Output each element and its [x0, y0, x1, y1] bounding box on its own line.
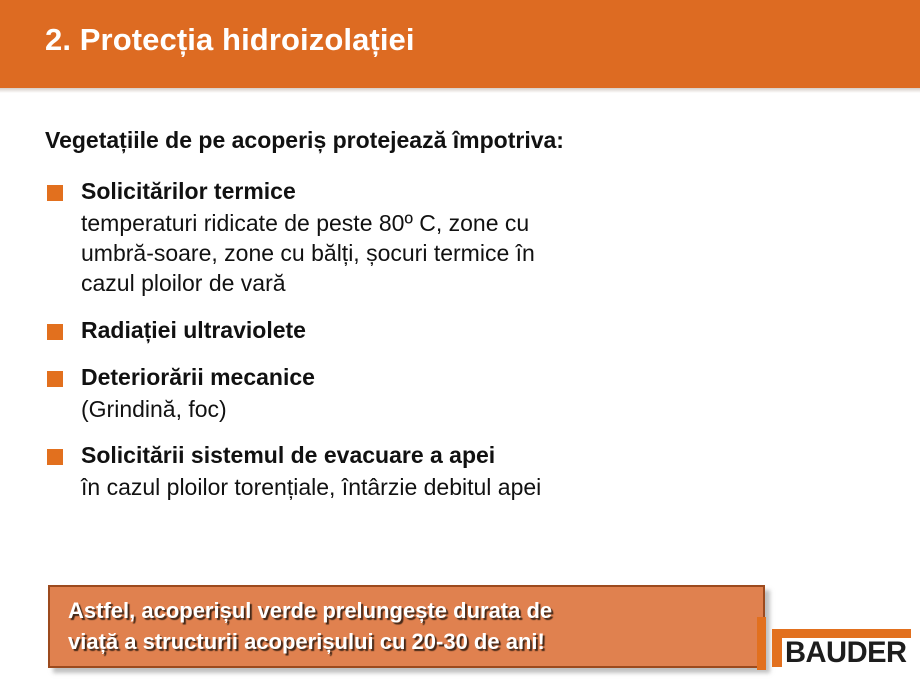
list-item-heading: Radiației ultraviolete [81, 316, 765, 346]
list-item-heading: Solicitărilor termice [81, 177, 765, 207]
highlight-callout-box: Astfel, acoperișul verde prelungește dur… [48, 585, 765, 668]
bullet-square-icon [47, 324, 63, 340]
detail-line: umbră-soare, zone cu bălți, șocuri termi… [81, 238, 765, 268]
callout-line: Astfel, acoperișul verde prelungește dur… [68, 595, 753, 626]
detail-line: temperaturi ridicate de peste 80º C, zon… [81, 208, 765, 238]
list-item: Deteriorării mecanice (Grindină, foc) [45, 363, 765, 424]
slide-content: Vegetațiile de pe acoperiș protejează îm… [45, 126, 765, 519]
list-item: Solicitărilor termice temperaturi ridica… [45, 177, 765, 299]
detail-line: cazul ploilor de vară [81, 268, 765, 298]
page-title: 2. Protecția hidroizolației [45, 22, 415, 58]
header-shadow [0, 88, 920, 93]
slide-canvas: 2. Protecția hidroizolației Vegetațiile … [0, 0, 920, 690]
bullet-square-icon [47, 371, 63, 387]
list-item-detail: în cazul ploilor torențiale, întârzie de… [81, 472, 765, 502]
logo-wordmark: BAUDER [785, 638, 907, 668]
detail-line: în cazul ploilor torențiale, întârzie de… [81, 472, 765, 502]
list-item: Radiației ultraviolete [45, 316, 765, 346]
list-item-heading: Deteriorării mecanice [81, 363, 765, 393]
list-item-detail: temperaturi ridicate de peste 80º C, zon… [81, 208, 765, 299]
list-item: Solicitării sistemul de evacuare a apei … [45, 441, 765, 502]
bullet-square-icon [47, 449, 63, 465]
bullet-square-icon [47, 185, 63, 201]
bauder-logo: BAUDER [772, 629, 918, 669]
callout-line: viață a structurii acoperișului cu 20-30… [68, 626, 753, 657]
intro-text: Vegetațiile de pe acoperiș protejează îm… [45, 126, 765, 155]
list-item-detail: (Grindină, foc) [81, 394, 765, 424]
accent-stripe [757, 617, 766, 670]
logo-bracket-left-icon [772, 629, 782, 667]
detail-line: (Grindină, foc) [81, 394, 765, 424]
list-item-heading: Solicitării sistemul de evacuare a apei [81, 441, 765, 471]
callout-text: Astfel, acoperișul verde prelungește dur… [68, 595, 753, 657]
